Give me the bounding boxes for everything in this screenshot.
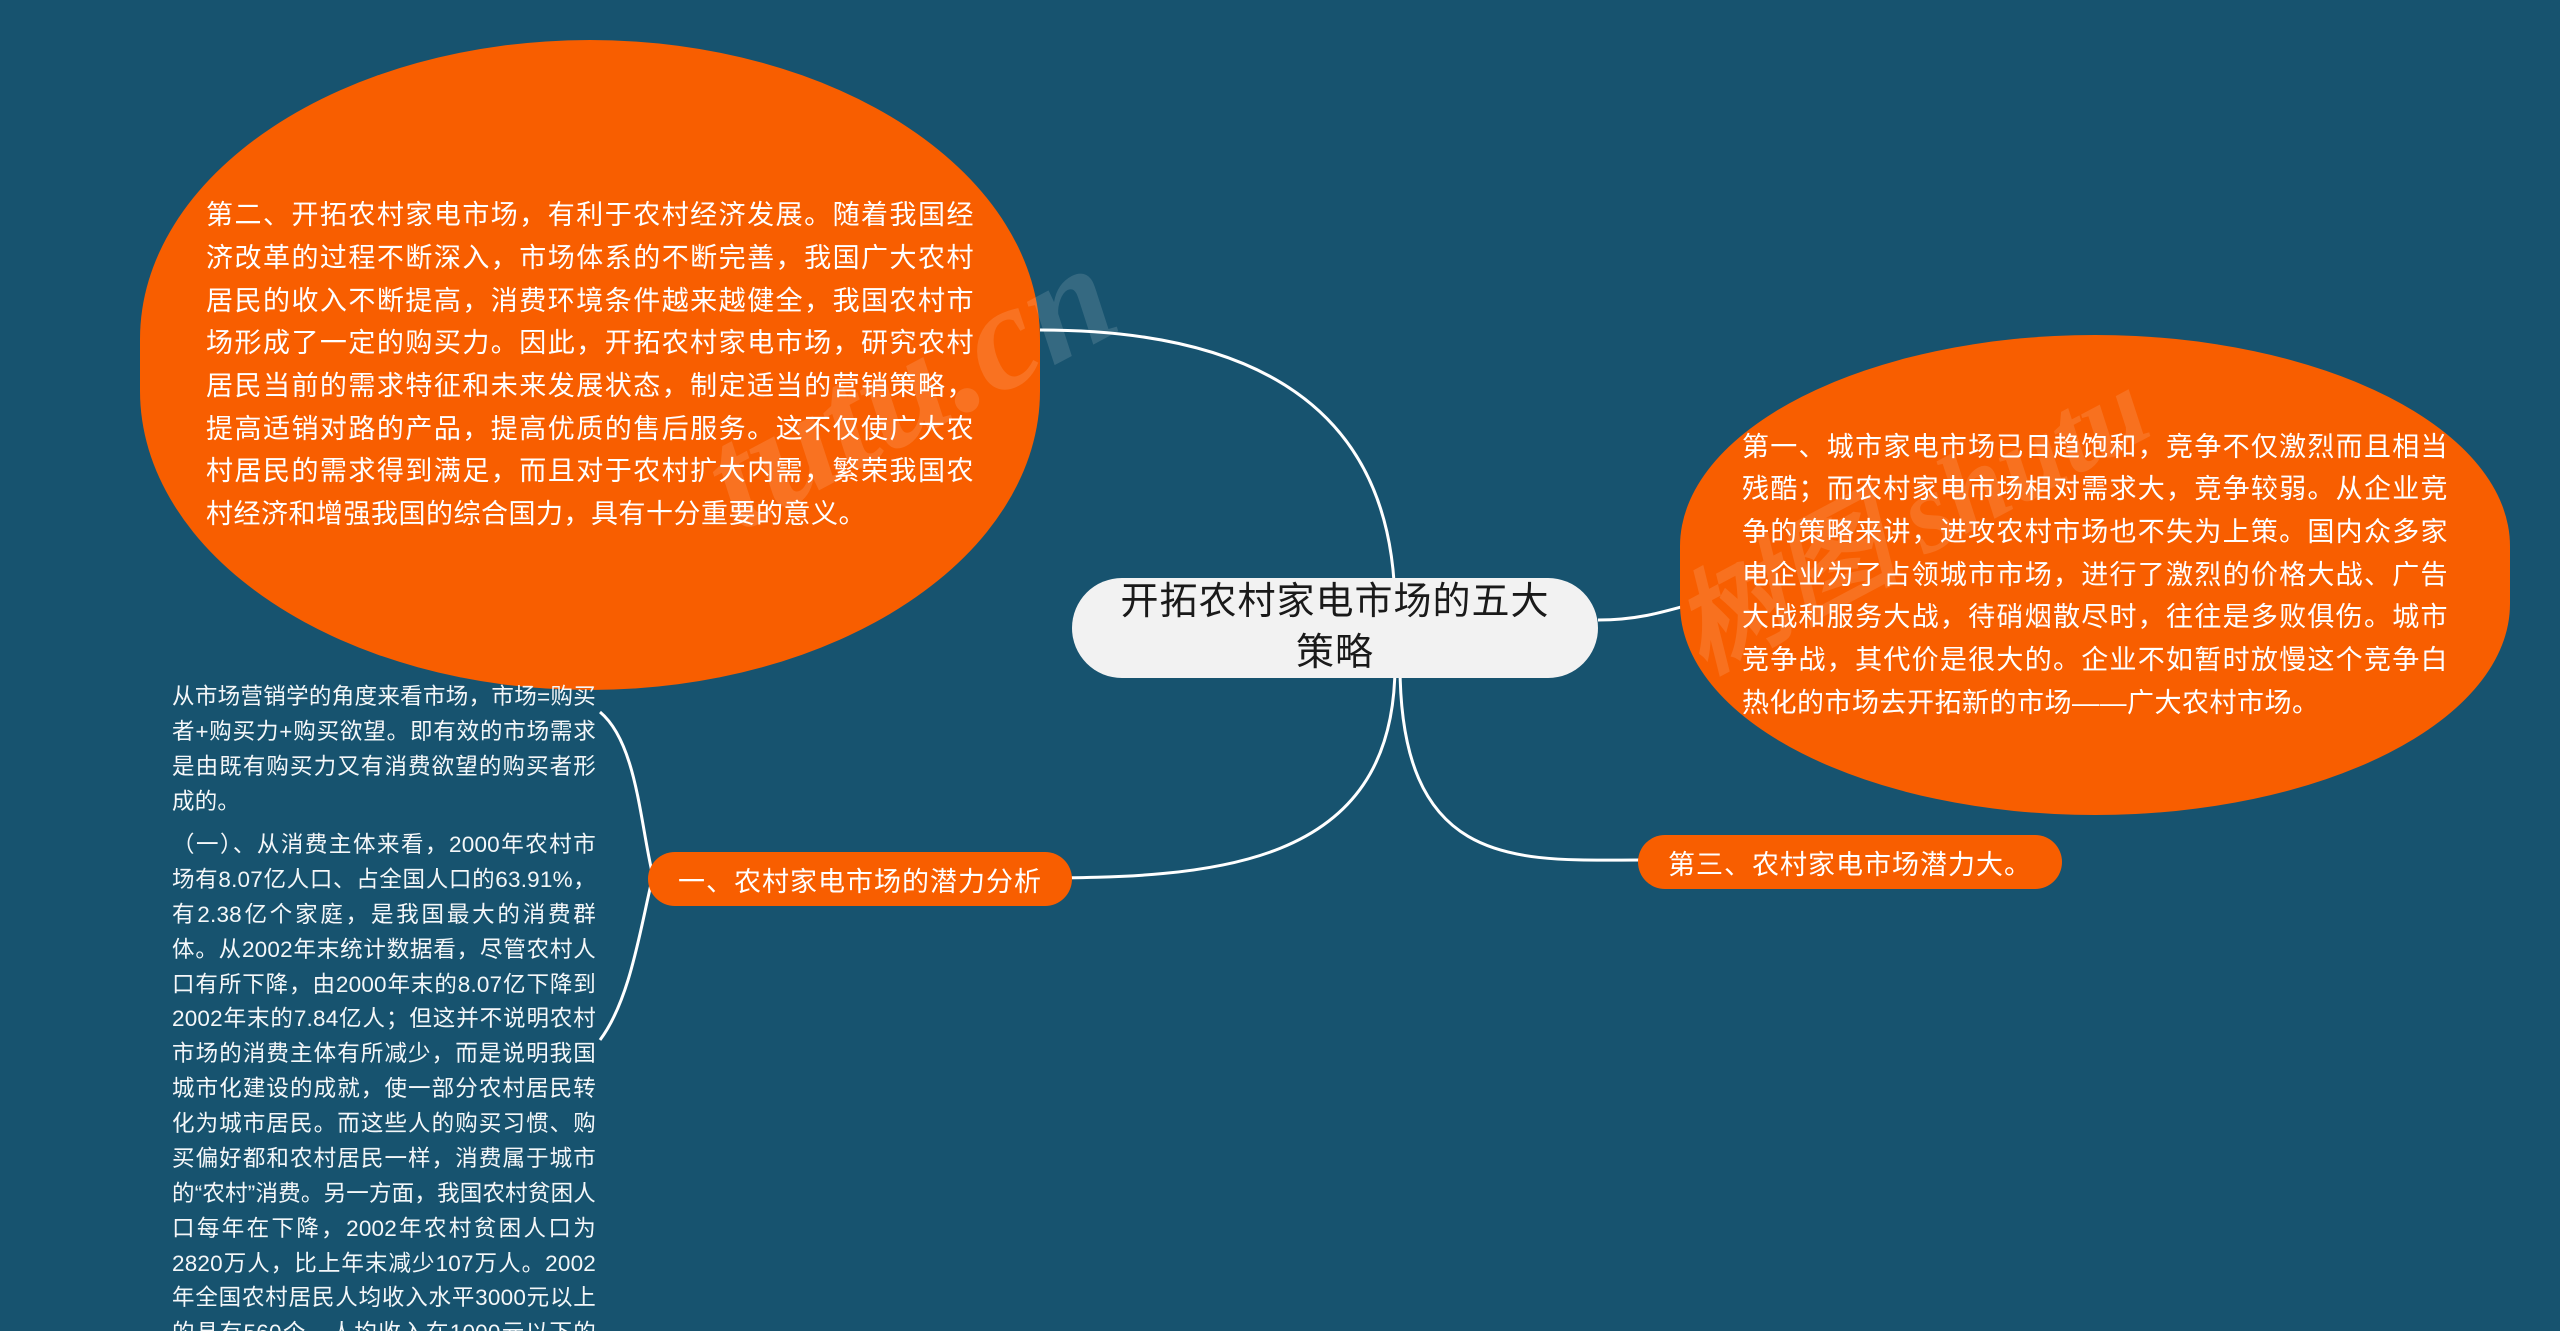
note-consumer-base-data-text: （一）、从消费主体来看，2000年农村市场有8.07亿人口、占全国人口的63.9… [172, 832, 596, 1331]
branch-node-second-strategy-text: 第二、开拓农村家电市场，有利于农村经济发展。随着我国经济改革的过程不断深入，市场… [206, 194, 974, 535]
branch-node-first-strategy[interactable]: 第一、城市家电市场已日趋饱和，竞争不仅激烈而且相当残酷；而农村家电市场相对需求大… [1680, 335, 2510, 815]
branch-pill-third-strategy-label: 第三、农村家电市场潜力大。 [1668, 843, 2032, 882]
branch-node-first-strategy-text: 第一、城市家电市场已日趋饱和，竞争不仅激烈而且相当残酷；而农村家电市场相对需求大… [1742, 426, 2448, 725]
note-market-definition: 从市场营销学的角度来看市场，市场=购买者+购买力+购买欲望。即有效的市场需求是由… [172, 680, 596, 820]
branch-node-second-strategy[interactable]: 第二、开拓农村家电市场，有利于农村经济发展。随着我国经济改革的过程不断深入，市场… [140, 40, 1040, 690]
branch-pill-market-potential-analysis-label: 一、农村家电市场的潜力分析 [678, 860, 1042, 899]
mindmap-canvas: tutu.cn 树图 shutu 第二、开拓农村家电市场，有利于农村经济发展。随… [0, 0, 2560, 1331]
connector-center-to-pill-right [1400, 665, 1640, 860]
center-node-title: 开拓农村家电市场的五大策略 [1118, 577, 1552, 680]
branch-pill-market-potential-analysis[interactable]: 一、农村家电市场的潜力分析 [648, 852, 1072, 906]
connector-center-to-pill-left [1030, 665, 1395, 878]
center-node[interactable]: 开拓农村家电市场的五大策略 [1072, 578, 1598, 678]
connector-center-to-top-left [1040, 330, 1395, 610]
connector-note-top-to-pill-left [600, 712, 652, 872]
note-consumer-base-data: （一）、从消费主体来看，2000年农村市场有8.07亿人口、占全国人口的63.9… [172, 828, 596, 1331]
branch-pill-third-strategy[interactable]: 第三、农村家电市场潜力大。 [1638, 835, 2062, 889]
connector-note-bottom-to-pill-left [600, 880, 652, 1040]
note-market-definition-text: 从市场营销学的角度来看市场，市场=购买者+购买力+购买欲望。即有效的市场需求是由… [172, 684, 596, 814]
